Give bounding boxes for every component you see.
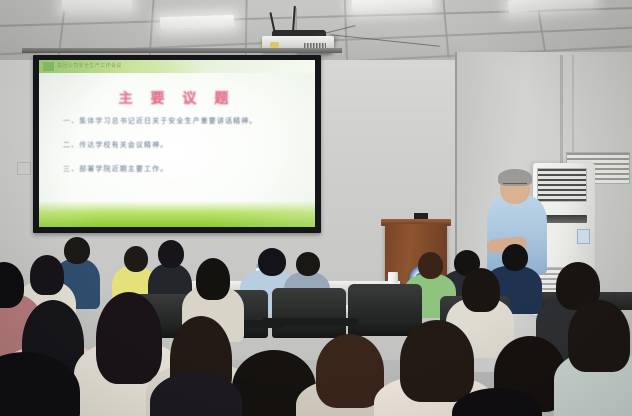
person-head: [418, 252, 443, 279]
person-hair: [462, 268, 500, 312]
person-hair: [568, 300, 630, 372]
slide-accent-block: [43, 62, 54, 71]
ac-brand-badge: [577, 229, 590, 244]
screen-surface: 集团公司安全生产工作会议 主 要 议 题 一、集体学习总书记近日关于安全生产重要…: [39, 60, 315, 227]
slide-header-text: 集团公司安全生产工作会议: [57, 62, 122, 69]
conference-room-photo: 集团公司安全生产工作会议 主 要 议 题 一、集体学习总书记近日关于安全生产重要…: [0, 0, 632, 416]
slide-bullet-list: 一、集体学习总书记近日关于安全生产重要讲话精神。 二、传达学校有关会议精神。 三…: [63, 116, 297, 188]
slide-title: 主 要 议 题: [39, 88, 315, 108]
ac-top-grille: [537, 168, 587, 202]
presentation-slide: 集团公司安全生产工作会议 主 要 议 题 一、集体学习总书记近日关于安全生产重要…: [39, 60, 315, 227]
slide-bullet-item: 二、传达学校有关会议精神。: [63, 140, 297, 150]
person-head: [124, 246, 148, 272]
person-hair: [400, 320, 474, 402]
chair: [272, 288, 346, 338]
person-hair: [196, 258, 230, 300]
person-head: [502, 244, 528, 271]
person-hair: [96, 292, 162, 384]
light-switch[interactable]: [17, 162, 31, 175]
slide-bullet-item: 一、集体学习总书记近日关于安全生产重要讲话精神。: [63, 116, 297, 126]
projection-screen: 集团公司安全生产工作会议 主 要 议 题 一、集体学习总书记近日关于安全生产重要…: [33, 55, 321, 233]
glasses-icon: [503, 183, 527, 189]
screen-mounting-rail: [22, 48, 342, 53]
slide-bullet-item: 三、部署学院近期主要工作。: [63, 164, 297, 174]
slide-bottom-band: [39, 201, 315, 227]
person-head: [158, 240, 184, 268]
ceiling-light-panel: [160, 15, 234, 30]
chair-armrest: [262, 318, 358, 326]
person-head: [296, 252, 320, 276]
person-head: [64, 237, 90, 264]
chair: [348, 284, 422, 336]
paper-cup: [388, 272, 398, 284]
person-hair: [316, 334, 384, 408]
person-hair: [30, 255, 64, 295]
person-head: [258, 248, 286, 276]
